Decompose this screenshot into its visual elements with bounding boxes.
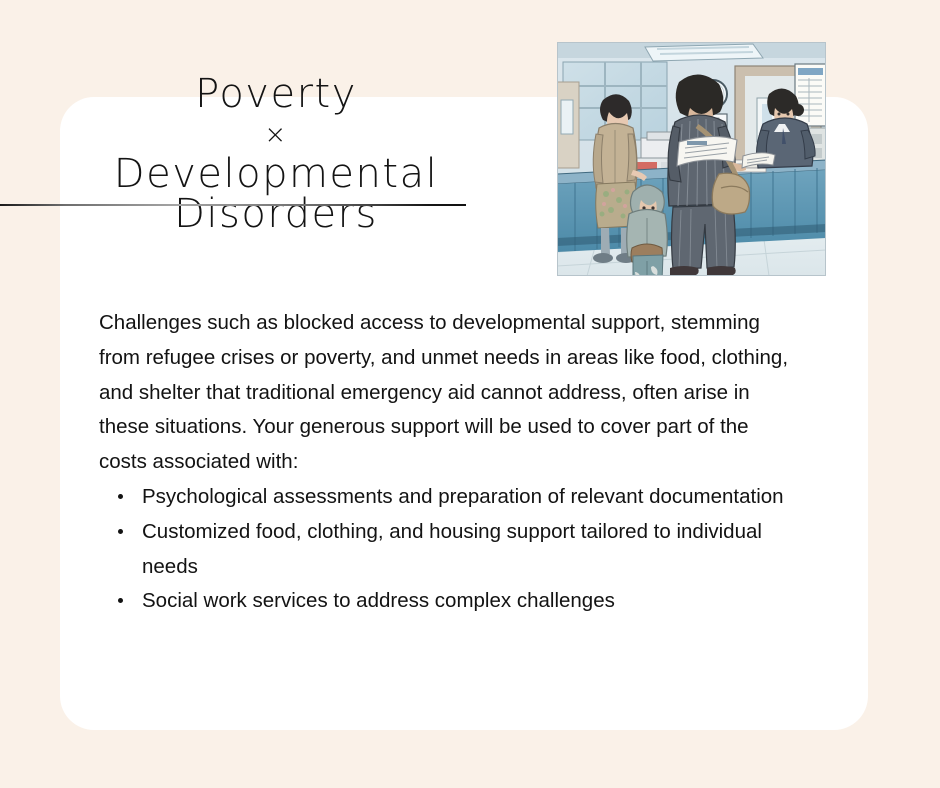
- figure-child: [627, 185, 668, 276]
- title-block: Poverty × Developmental Disorders: [0, 74, 540, 234]
- ceiling-light: [645, 44, 763, 61]
- bullet-dot-icon: [118, 494, 123, 499]
- list-item: Customized food, clothing, and housing s…: [99, 515, 799, 585]
- bulletin-board: [795, 64, 826, 126]
- list-item-label: Social work services to address complex …: [142, 589, 615, 612]
- bullet-dot-icon: [118, 529, 123, 534]
- page-title-primary: Poverty: [0, 74, 540, 114]
- title-underline-rule: [0, 204, 466, 206]
- intro-paragraph: Challenges such as blocked access to dev…: [99, 306, 799, 480]
- slide-root: Poverty × Developmental Disorders: [0, 0, 940, 788]
- list-item-label: Customized food, clothing, and housing s…: [142, 520, 762, 578]
- list-item-label: Psychological assessments and preparatio…: [142, 485, 784, 508]
- title-separator-symbol: ×: [0, 122, 540, 148]
- page-title-secondary: Developmental Disorders: [0, 154, 540, 234]
- bullet-dot-icon: [118, 598, 123, 603]
- list-item: Psychological assessments and preparatio…: [99, 480, 799, 515]
- body-copy: Challenges such as blocked access to dev…: [99, 306, 799, 619]
- list-item: Social work services to address complex …: [99, 584, 799, 619]
- welfare-office-illustration: [557, 42, 826, 276]
- support-costs-list: Psychological assessments and preparatio…: [99, 480, 799, 619]
